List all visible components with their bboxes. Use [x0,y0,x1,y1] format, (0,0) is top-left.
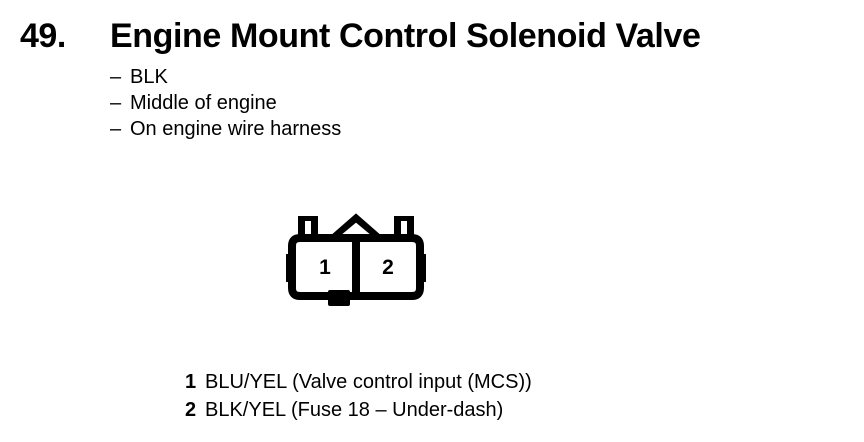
legend-row: 1BLU/YEL (Valve control input (MCS)) [185,368,805,396]
note-list: –BLK –Middle of engine –On engine wire h… [110,64,610,142]
legend-pin-number: 2 [185,396,205,424]
page-title: Engine Mount Control Solenoid Valve [110,14,700,58]
connector-illustration: 1 2 [270,200,460,315]
list-item: –BLK [110,64,610,90]
cavity-number-1: 1 [319,256,331,279]
connector-left-notch-icon [288,256,294,280]
list-item-label: BLK [130,66,168,88]
list-item-label: Middle of engine [130,92,277,114]
legend-pin-description: BLU/YEL (Valve control input (MCS)) [205,371,532,393]
legend-pin-number: 1 [185,368,205,396]
list-item: –Middle of engine [110,90,610,116]
dash-bullet-icon: – [110,64,130,90]
connector-diagram: 1 2 [270,200,460,315]
list-item: –On engine wire harness [110,116,610,142]
list-item-label: On engine wire harness [130,118,341,140]
cavity-number-2: 2 [382,256,394,279]
heading-number: 49. [20,14,66,58]
legend-pin-description: BLK/YEL (Fuse 18 – Under-dash) [205,399,503,421]
dash-bullet-icon: – [110,116,130,142]
connector-bottom-tab-icon [330,292,348,304]
connector-right-notch-icon [418,256,424,280]
dash-bullet-icon: – [110,90,130,116]
pin-legend: 1BLU/YEL (Valve control input (MCS)) 2BL… [185,368,805,424]
legend-row: 2BLK/YEL (Fuse 18 – Under-dash) [185,396,805,424]
page-heading: 49. Engine Mount Control Solenoid Valve [0,14,864,60]
